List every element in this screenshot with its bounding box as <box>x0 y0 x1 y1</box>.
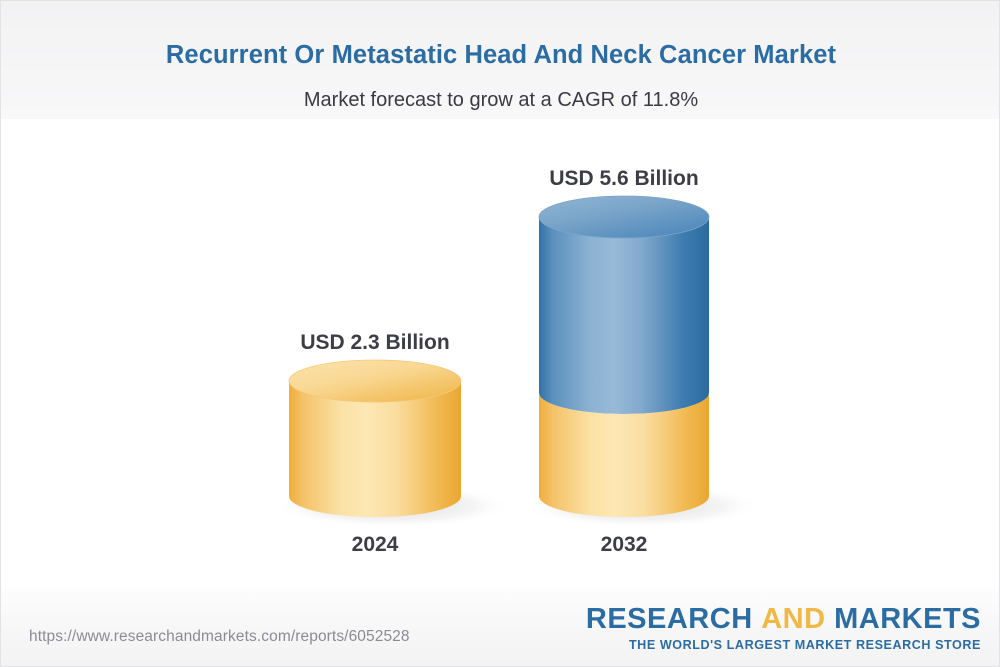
research-and-markets-logo[interactable]: RESEARCH AND MARKETS THE WORLD'S LARGEST… <box>586 605 981 652</box>
cylinder-bar-chart <box>1 1 1000 667</box>
chart-canvas: Recurrent Or Metastatic Head And Neck Ca… <box>0 0 1000 667</box>
category-label-2032: 2032 <box>524 533 724 557</box>
logo-word-research: RESEARCH <box>586 603 753 635</box>
logo-word-markets: MARKETS <box>834 603 981 635</box>
value-label-2032: USD 5.6 Billion <box>524 167 724 191</box>
report-url[interactable]: https://www.researchandmarkets.com/repor… <box>29 628 410 646</box>
logo-tagline: THE WORLD'S LARGEST MARKET RESEARCH STOR… <box>586 639 981 652</box>
bar-2032-blue-segment <box>539 217 709 414</box>
bar-2024-top-cap <box>289 360 461 402</box>
bar-2032-top-cap <box>539 196 709 238</box>
category-label-2024: 2024 <box>275 533 475 557</box>
value-label-2024: USD 2.3 Billion <box>275 331 475 355</box>
logo-word-and: AND <box>761 603 825 635</box>
logo-wordmark: RESEARCH AND MARKETS <box>586 605 981 634</box>
bar-2024[interactable] <box>289 360 461 517</box>
bar-2032[interactable] <box>539 196 709 517</box>
